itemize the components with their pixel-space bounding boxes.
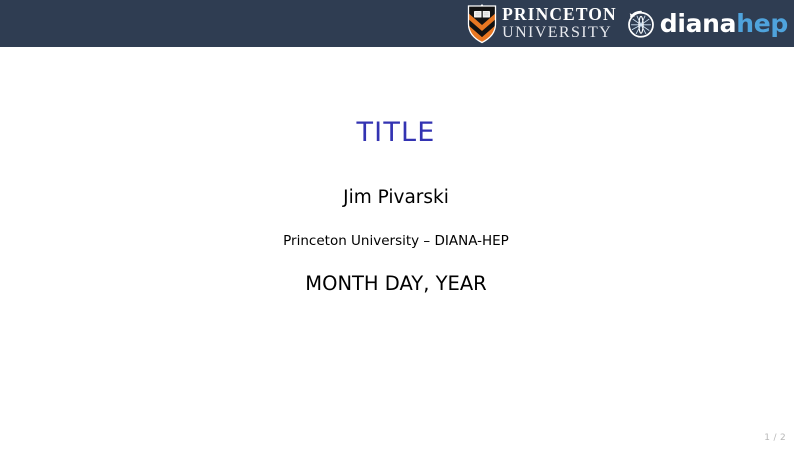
princeton-university-logo: PRINCETON UNIVERSITY: [467, 0, 617, 47]
diana-hep-detector-icon: [625, 8, 657, 40]
page-number-indicator: 1 / 2: [764, 433, 786, 443]
author-name: Jim Pivarski: [0, 146, 793, 208]
diana-wordmark-secondary: hep: [736, 9, 788, 38]
diana-hep-logo: dianahep: [625, 0, 788, 47]
header-logo-group: PRINCETON UNIVERSITY: [467, 0, 788, 47]
presentation-slide: PRINCETON UNIVERSITY: [0, 0, 794, 449]
diana-hep-wordmark: dianahep: [660, 11, 788, 36]
princeton-wordmark-line1: PRINCETON: [502, 6, 617, 24]
title-block: TITLE Jim Pivarski Princeton University …: [0, 47, 794, 294]
princeton-wordmark: PRINCETON UNIVERSITY: [502, 6, 617, 41]
princeton-wordmark-line2: UNIVERSITY: [502, 25, 617, 41]
diana-wordmark-primary: diana: [660, 9, 737, 38]
page-title: TITLE: [0, 47, 793, 146]
presentation-date: MONTH DAY, YEAR: [0, 248, 793, 294]
institute-affiliation: Princeton University – DIANA-HEP: [0, 208, 793, 249]
princeton-shield-icon: [467, 4, 497, 44]
slide-header-bar: PRINCETON UNIVERSITY: [0, 0, 794, 47]
